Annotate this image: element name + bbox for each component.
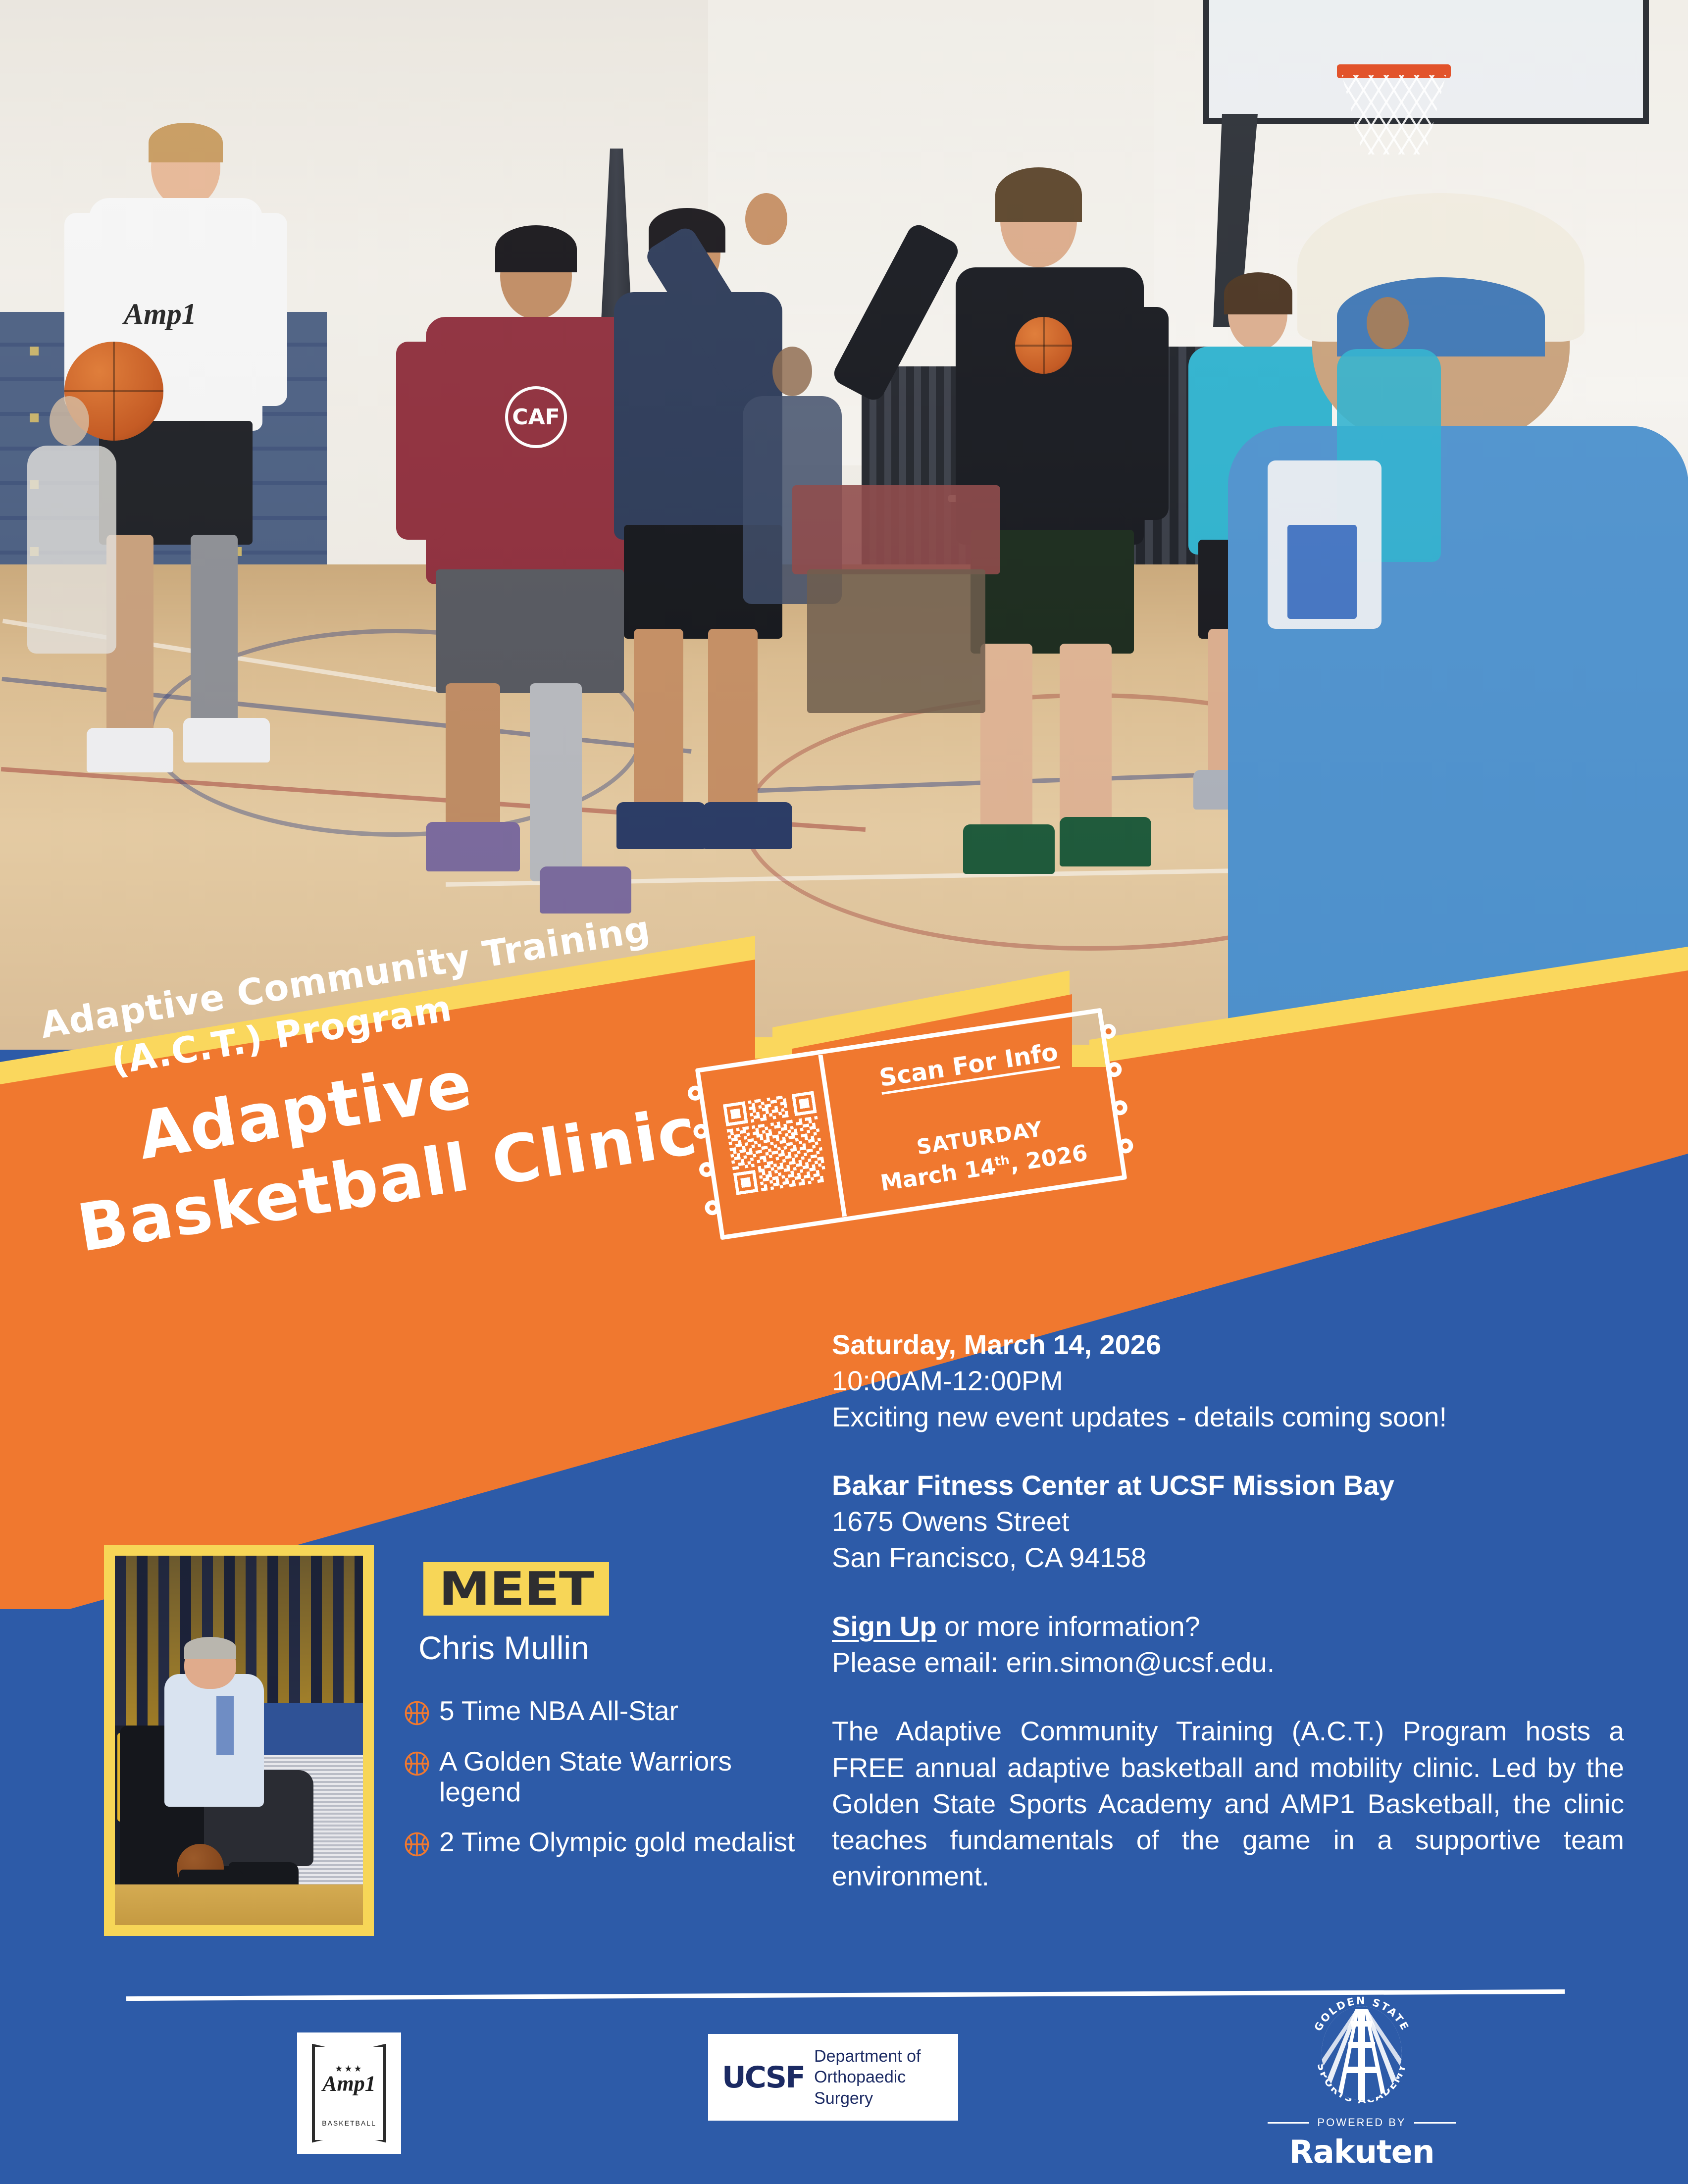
- rakuten-wordmark: Rakuten: [1223, 2134, 1500, 2171]
- event-info-column: Saturday, March 14, 2026 10:00AM-12:00PM…: [832, 1327, 1624, 1894]
- hero-photo: EXIT: [0, 0, 1688, 1050]
- list-item: A Golden State Warriors legend: [404, 1746, 800, 1807]
- powered-by-label: POWERED BY: [1317, 2116, 1406, 2129]
- flyer-page: EXIT: [0, 0, 1688, 2184]
- list-item: 2 Time Olympic gold medalist: [404, 1827, 800, 1858]
- credential-text: 2 Time Olympic gold medalist: [439, 1827, 795, 1858]
- meet-badge-label: MEET: [412, 1562, 620, 1616]
- ucsf-dept-line-1: Department of: [814, 2046, 958, 2067]
- event-where-block: Bakar Fitness Center at UCSF Mission Bay…: [832, 1468, 1624, 1575]
- gssa-bridge-icon: [1322, 2006, 1402, 2100]
- credential-text: A Golden State Warriors legend: [439, 1746, 800, 1807]
- golden-state-sports-academy-logo: GOLDEN STATE SPORTS ACADEMY: [1223, 1995, 1500, 2179]
- basketball-bullet-icon: [404, 1750, 430, 1777]
- event-venue: Bakar Fitness Center at UCSF Mission Bay: [832, 1468, 1624, 1504]
- event-time: 10:00AM-12:00PM: [832, 1363, 1624, 1399]
- qr-code-icon[interactable]: [723, 1091, 827, 1195]
- chris-mullin-photo-frame: P: [104, 1545, 374, 1936]
- basketball-bullet-icon: [404, 1700, 430, 1727]
- signup-block: Sign Up or more information? Please emai…: [832, 1609, 1624, 1681]
- gssa-emblem: GOLDEN STATE SPORTS ACADEMY: [1305, 1995, 1419, 2109]
- photo-overlay: [0, 0, 1688, 1050]
- guest-name: Chris Mullin: [418, 1629, 589, 1667]
- amp1-logo: ★★★ Amp1 BASKETBALL: [297, 2032, 401, 2154]
- ticket-ordinal: th: [994, 1153, 1011, 1169]
- ucsf-logo: UCSF Department of Orthopaedic Surgery: [708, 2034, 958, 2121]
- event-address-line-2: San Francisco, CA 94158: [832, 1540, 1624, 1576]
- program-description: The Adaptive Community Training (A.C.T.)…: [832, 1713, 1624, 1894]
- guest-credentials-list: 5 Time NBA All-Star A Golden State Warri…: [404, 1696, 800, 1878]
- amp1-subtext: BASKETBALL: [312, 2119, 386, 2127]
- credential-text: 5 Time NBA All-Star: [439, 1696, 678, 1727]
- event-note: Exciting new event updates - details com…: [832, 1399, 1624, 1435]
- ucsf-wordmark: UCSF: [722, 2064, 804, 2091]
- signup-link[interactable]: Sign Up: [832, 1611, 937, 1642]
- event-date: Saturday, March 14, 2026: [832, 1327, 1624, 1363]
- ticket-year: , 2026: [1008, 1139, 1089, 1177]
- qr-code-svg: [723, 1091, 827, 1195]
- basketball-bullet-icon: [404, 1831, 430, 1858]
- signup-email-line[interactable]: Please email: erin.simon@ucsf.edu.: [832, 1645, 1624, 1681]
- list-item: 5 Time NBA All-Star: [404, 1696, 800, 1727]
- ucsf-department-text: Department of Orthopaedic Surgery: [814, 2046, 958, 2109]
- signup-line: Sign Up or more information?: [832, 1609, 1624, 1645]
- event-when-block: Saturday, March 14, 2026 10:00AM-12:00PM…: [832, 1327, 1624, 1435]
- signup-rest: or more information?: [937, 1611, 1200, 1642]
- amp1-wordmark: Amp1: [312, 2071, 386, 2096]
- event-address-line-1: 1675 Owens Street: [832, 1504, 1624, 1540]
- powered-by-row: POWERED BY: [1223, 2116, 1500, 2129]
- meet-badge: MEET: [423, 1562, 609, 1616]
- ucsf-dept-line-2: Orthopaedic Surgery: [814, 2067, 958, 2109]
- chris-mullin-photo: P: [115, 1556, 363, 1925]
